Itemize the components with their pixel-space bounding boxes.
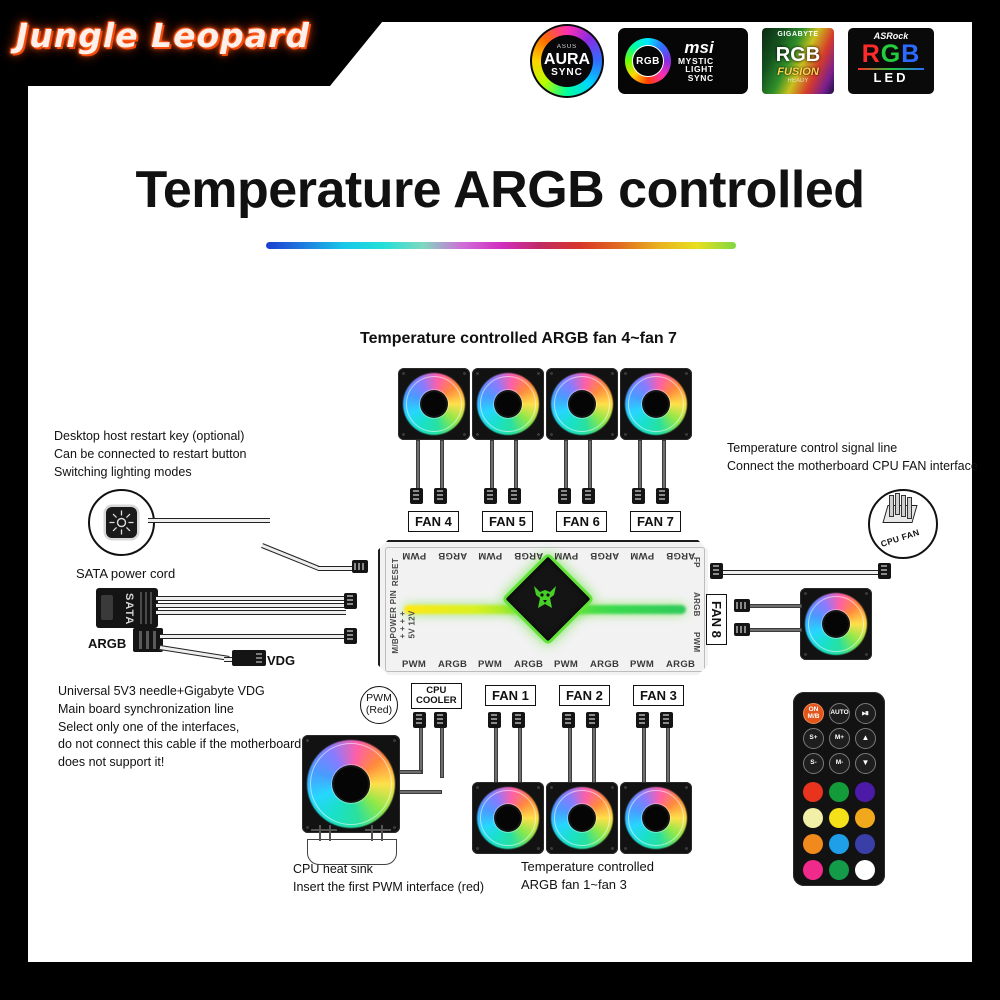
fan-6-cable-b <box>588 440 592 490</box>
argb-connector <box>344 628 357 644</box>
restart-button-callout[interactable] <box>88 489 155 556</box>
cpu-fan-wire-connector-right <box>878 563 891 579</box>
remote-color-1-2[interactable] <box>829 782 849 802</box>
pwm-red-callout: PWM (Red) <box>360 686 398 724</box>
remote-speed-down-button[interactable]: S- <box>803 753 824 774</box>
fan-2 <box>546 782 618 854</box>
fan-5-label: FAN 5 <box>482 511 533 532</box>
cpu-fan-header-base <box>882 505 917 523</box>
fan-2-label: FAN 2 <box>559 685 610 706</box>
sata-plug-ribs <box>140 592 154 624</box>
hub-port-top-7[interactable]: PWM <box>630 550 654 561</box>
fan-6 <box>546 368 618 440</box>
fan-6-cable-a <box>564 440 568 490</box>
fan-5-cable-a <box>490 440 494 490</box>
restart-wire-seg1 <box>148 518 270 523</box>
msi-sub: MYSTIC LIGHT SYNC <box>678 57 714 84</box>
argb-plug <box>133 628 163 652</box>
top-fans-heading: Temperature controlled ARGB fan 4~fan 7 <box>360 330 677 348</box>
fan-5 <box>472 368 544 440</box>
hub-port-top-4[interactable]: ARGB <box>514 550 543 561</box>
fan-1-connector-a <box>488 712 501 728</box>
fan-2-connector-a <box>562 712 575 728</box>
remote-brightness-down-button[interactable]: ▼ <box>855 753 876 774</box>
cpu-cooler-label: CPU COOLER <box>411 683 462 709</box>
remote-brightness-up-button[interactable]: ▲ <box>855 728 876 749</box>
hub-port-top-3[interactable]: PWM <box>478 550 502 561</box>
fan-7 <box>620 368 692 440</box>
remote-color-3-3[interactable] <box>855 834 875 854</box>
fan-3-connector-b <box>660 712 673 728</box>
fan-7-connector-a <box>632 488 645 504</box>
hub-mb-label: M/B <box>391 638 400 654</box>
remote-color-4-1[interactable] <box>803 860 823 880</box>
aura-title: AURA <box>544 52 590 68</box>
hub-port-bottom-5[interactable]: PWM <box>554 659 578 670</box>
heatsink-note: CPU heat sink Insert the first PWM inter… <box>293 861 484 897</box>
hub-port-top-5[interactable]: PWM <box>554 550 578 561</box>
brand-logo-text: Jungle Leopard <box>16 16 310 55</box>
sata-wire-3 <box>156 610 346 615</box>
remote-mode-up-button[interactable]: M+ <box>829 728 850 749</box>
remote-color-2-2[interactable] <box>829 808 849 828</box>
hub-port-top-6[interactable]: ARGB <box>590 550 619 561</box>
gigabyte-ready: READY <box>762 78 834 84</box>
hub-power-pin-label: POWER PIN + + + + 5V 12V <box>389 590 417 638</box>
remote-color-2-3[interactable] <box>855 808 875 828</box>
gigabyte-rgb: RGB <box>762 44 834 67</box>
cpu-heat-sink <box>297 825 405 865</box>
cpu-fan-circle-label: CPU FAN <box>879 527 920 549</box>
sata-connector <box>344 593 357 609</box>
fan-1 <box>472 782 544 854</box>
argb-fan-hub-controller[interactable]: PWM ARGB PWM ARGB PWM ARGB PWM ARGB PWM … <box>378 540 712 679</box>
fan-5-connector-b <box>508 488 521 504</box>
remote-mode-down-button[interactable]: M- <box>829 753 850 774</box>
heatsink-base <box>307 839 397 865</box>
fan-3 <box>620 782 692 854</box>
hub-port-top-2[interactable]: ARGB <box>438 550 467 561</box>
restart-connector <box>352 560 368 573</box>
hub-port-bottom-7[interactable]: PWM <box>630 659 654 670</box>
fan-4-connector-b <box>434 488 447 504</box>
cpu-cooler-connector-b <box>434 712 447 728</box>
hub-port-bottom-1[interactable]: PWM <box>402 659 426 670</box>
sata-plug-text: SATA <box>123 593 135 625</box>
fan-8-label: FAN 8 <box>706 594 727 645</box>
hub-port-top-1[interactable]: PWM <box>402 550 426 561</box>
msi-brand: msi <box>678 39 714 57</box>
fan-6-label: FAN 6 <box>556 511 607 532</box>
aura-brand: ASUS <box>544 44 590 50</box>
sata-power-plug: SATA <box>96 588 158 628</box>
remote-color-4-3[interactable] <box>855 860 875 880</box>
remote-color-1-1[interactable] <box>803 782 823 802</box>
gigabyte-rgb-fusion-badge: GIGABYTE RGB FUSION READY <box>762 28 834 94</box>
sata-wire-2 <box>156 603 346 608</box>
product-infographic-page: Jungle Leopard ASUS AURA SYNC RGB msi MY… <box>0 0 1000 1000</box>
fan-5-cable-b <box>514 440 518 490</box>
bottom-fans-heading: Temperature controlled ARGB fan 1~fan 3 <box>521 858 654 895</box>
remote-color-3-2[interactable] <box>829 834 849 854</box>
compatibility-badges: ASUS AURA SYNC RGB msi MYSTIC LIGHT SYNC… <box>530 24 934 98</box>
hub-port-bottom-6[interactable]: ARGB <box>590 659 619 670</box>
hub-pwm-out-label: PWM <box>692 632 701 652</box>
hub-argb-out-label: ARGB <box>692 592 701 617</box>
fan-7-label: FAN 7 <box>630 511 681 532</box>
fan-8 <box>800 588 872 660</box>
fan-3-connector-a <box>636 712 649 728</box>
hub-reset-label: RESET <box>391 558 400 586</box>
hub-port-bottom-3[interactable]: PWM <box>478 659 502 670</box>
rainbow-divider <box>266 242 736 249</box>
remote-color-3-1[interactable] <box>803 834 823 854</box>
asrock-led: LED <box>852 71 930 85</box>
remote-speed-up-button[interactable]: S+ <box>803 728 824 749</box>
vdg-plug <box>232 650 266 666</box>
hub-port-bottom-8[interactable]: ARGB <box>666 659 695 670</box>
gigabyte-brand: GIGABYTE <box>762 31 834 38</box>
cpu-cooler-fan <box>302 735 400 833</box>
argb-wire-1 <box>160 634 346 639</box>
fan-4 <box>398 368 470 440</box>
fan-1-connector-b <box>512 712 525 728</box>
fan-6-connector-b <box>582 488 595 504</box>
remote-color-2-1[interactable] <box>803 808 823 828</box>
remote-color-4-2[interactable] <box>829 860 849 880</box>
fan-4-label: FAN 4 <box>408 511 459 532</box>
lighting-mode-button-icon[interactable] <box>106 507 137 538</box>
hub-fp-label: FP <box>692 557 701 568</box>
msi-ring-label: RGB <box>625 38 671 84</box>
fan-4-cable-a <box>416 440 420 490</box>
fan-8-cable-a <box>748 604 802 608</box>
gigabyte-fusion: FUSION <box>762 66 834 78</box>
sata-wire-1 <box>156 596 346 601</box>
vdg-connector-label: VDG <box>267 652 295 670</box>
hub-port-bottom-4[interactable]: ARGB <box>514 659 543 670</box>
argb-cable-label: ARGB <box>88 635 126 653</box>
remote-auto-button[interactable]: AUTO <box>829 703 850 724</box>
fan-1-label: FAN 1 <box>485 685 536 706</box>
sun-burst-icon <box>106 507 137 538</box>
fan-2-connector-b <box>586 712 599 728</box>
asrock-g: G <box>881 40 901 68</box>
cpu-fan-wire-connector-left <box>710 563 723 579</box>
msi-mystic-light-badge: RGB msi MYSTIC LIGHT SYNC <box>618 28 748 94</box>
signal-line-note: Temperature control signal line Connect … <box>727 440 978 476</box>
hub-port-bottom-2[interactable]: ARGB <box>438 659 467 670</box>
fan-8-cable-b <box>748 628 802 632</box>
restart-key-note: Desktop host restart key (optional) Can … <box>54 428 247 481</box>
fan-5-connector-a <box>484 488 497 504</box>
fan-3-label: FAN 3 <box>633 685 684 706</box>
sata-plug-notch <box>101 595 113 620</box>
fan-7-connector-b <box>656 488 669 504</box>
msi-rgb-ring-icon: RGB <box>625 38 671 84</box>
fan-4-connector-a <box>410 488 423 504</box>
sata-power-cord-label: SATA power cord <box>76 565 175 583</box>
asrock-r: R <box>862 40 881 68</box>
remote-play-pause-button[interactable]: ⏯ <box>855 703 876 724</box>
fan-6-connector-a <box>558 488 571 504</box>
remote-on-mb-button[interactable]: ON M/B <box>803 703 824 724</box>
asrock-rgb-led-badge: ASRock RGB LED <box>848 28 934 94</box>
remote-color-1-3[interactable] <box>855 782 875 802</box>
asus-aura-sync-badge: ASUS AURA SYNC <box>530 24 604 98</box>
asrock-b: B <box>901 40 920 68</box>
rgb-remote-control[interactable]: ON M/B AUTO ⏯ S+ M+ ▲ S- M- ▼ <box>793 692 885 886</box>
fan-4-cable-b <box>440 440 444 490</box>
fan-7-cable-a <box>638 440 642 490</box>
leopard-head-logo-icon <box>530 582 560 612</box>
aura-sub: SYNC <box>544 68 590 78</box>
cpu-cooler-connector-a <box>413 712 426 728</box>
fan-8-connector-a <box>734 599 750 612</box>
cpu-fan-header-callout: CPU FAN <box>868 489 938 559</box>
fan-8-connector-b <box>734 623 750 636</box>
hub-port-top-8[interactable]: ARGB <box>666 550 695 561</box>
page-title: Temperature ARGB controlled <box>0 160 1000 220</box>
fan-7-cable-b <box>662 440 666 490</box>
cpu-fan-signal-wire <box>722 570 884 575</box>
sync-line-note: Universal 5V3 needle+Gigabyte VDG Main b… <box>58 683 301 772</box>
